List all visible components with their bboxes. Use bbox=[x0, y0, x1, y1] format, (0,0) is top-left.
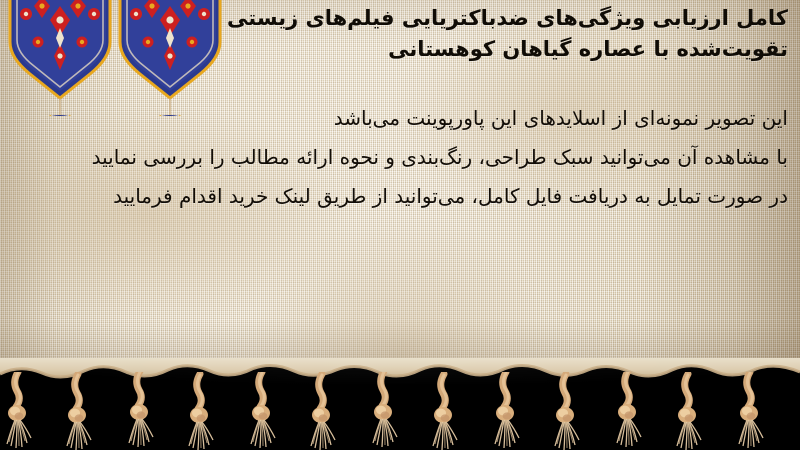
slide-title: کامل ارزیابی ویژگی‌های ضدباکتریایی فیلم‌… bbox=[168, 4, 788, 65]
slide-body-text: این تصویر نمونه‌ای از اسلایدهای این پاور… bbox=[8, 108, 788, 206]
fringe-cords bbox=[0, 372, 800, 450]
body-line-1: این تصویر نمونه‌ای از اسلایدهای این پاور… bbox=[8, 108, 788, 128]
carpet-tassel-fringe bbox=[0, 358, 800, 450]
body-line-3: در صورت تمایل به دریافت فایل کامل، می‌تو… bbox=[8, 186, 788, 206]
carpet-pendant-ornament-left bbox=[8, 0, 112, 116]
body-line-2: با مشاهده آن می‌توانید سبک طراحی، رنگ‌بن… bbox=[8, 147, 788, 167]
title-line-1: کامل ارزیابی ویژگی‌های ضدباکتریایی فیلم‌… bbox=[168, 4, 788, 34]
presentation-slide: کامل ارزیابی ویژگی‌های ضدباکتریایی فیلم‌… bbox=[0, 0, 800, 450]
title-line-2: تقویت‌شده با عصاره گیاهان کوهستانی bbox=[168, 35, 788, 65]
